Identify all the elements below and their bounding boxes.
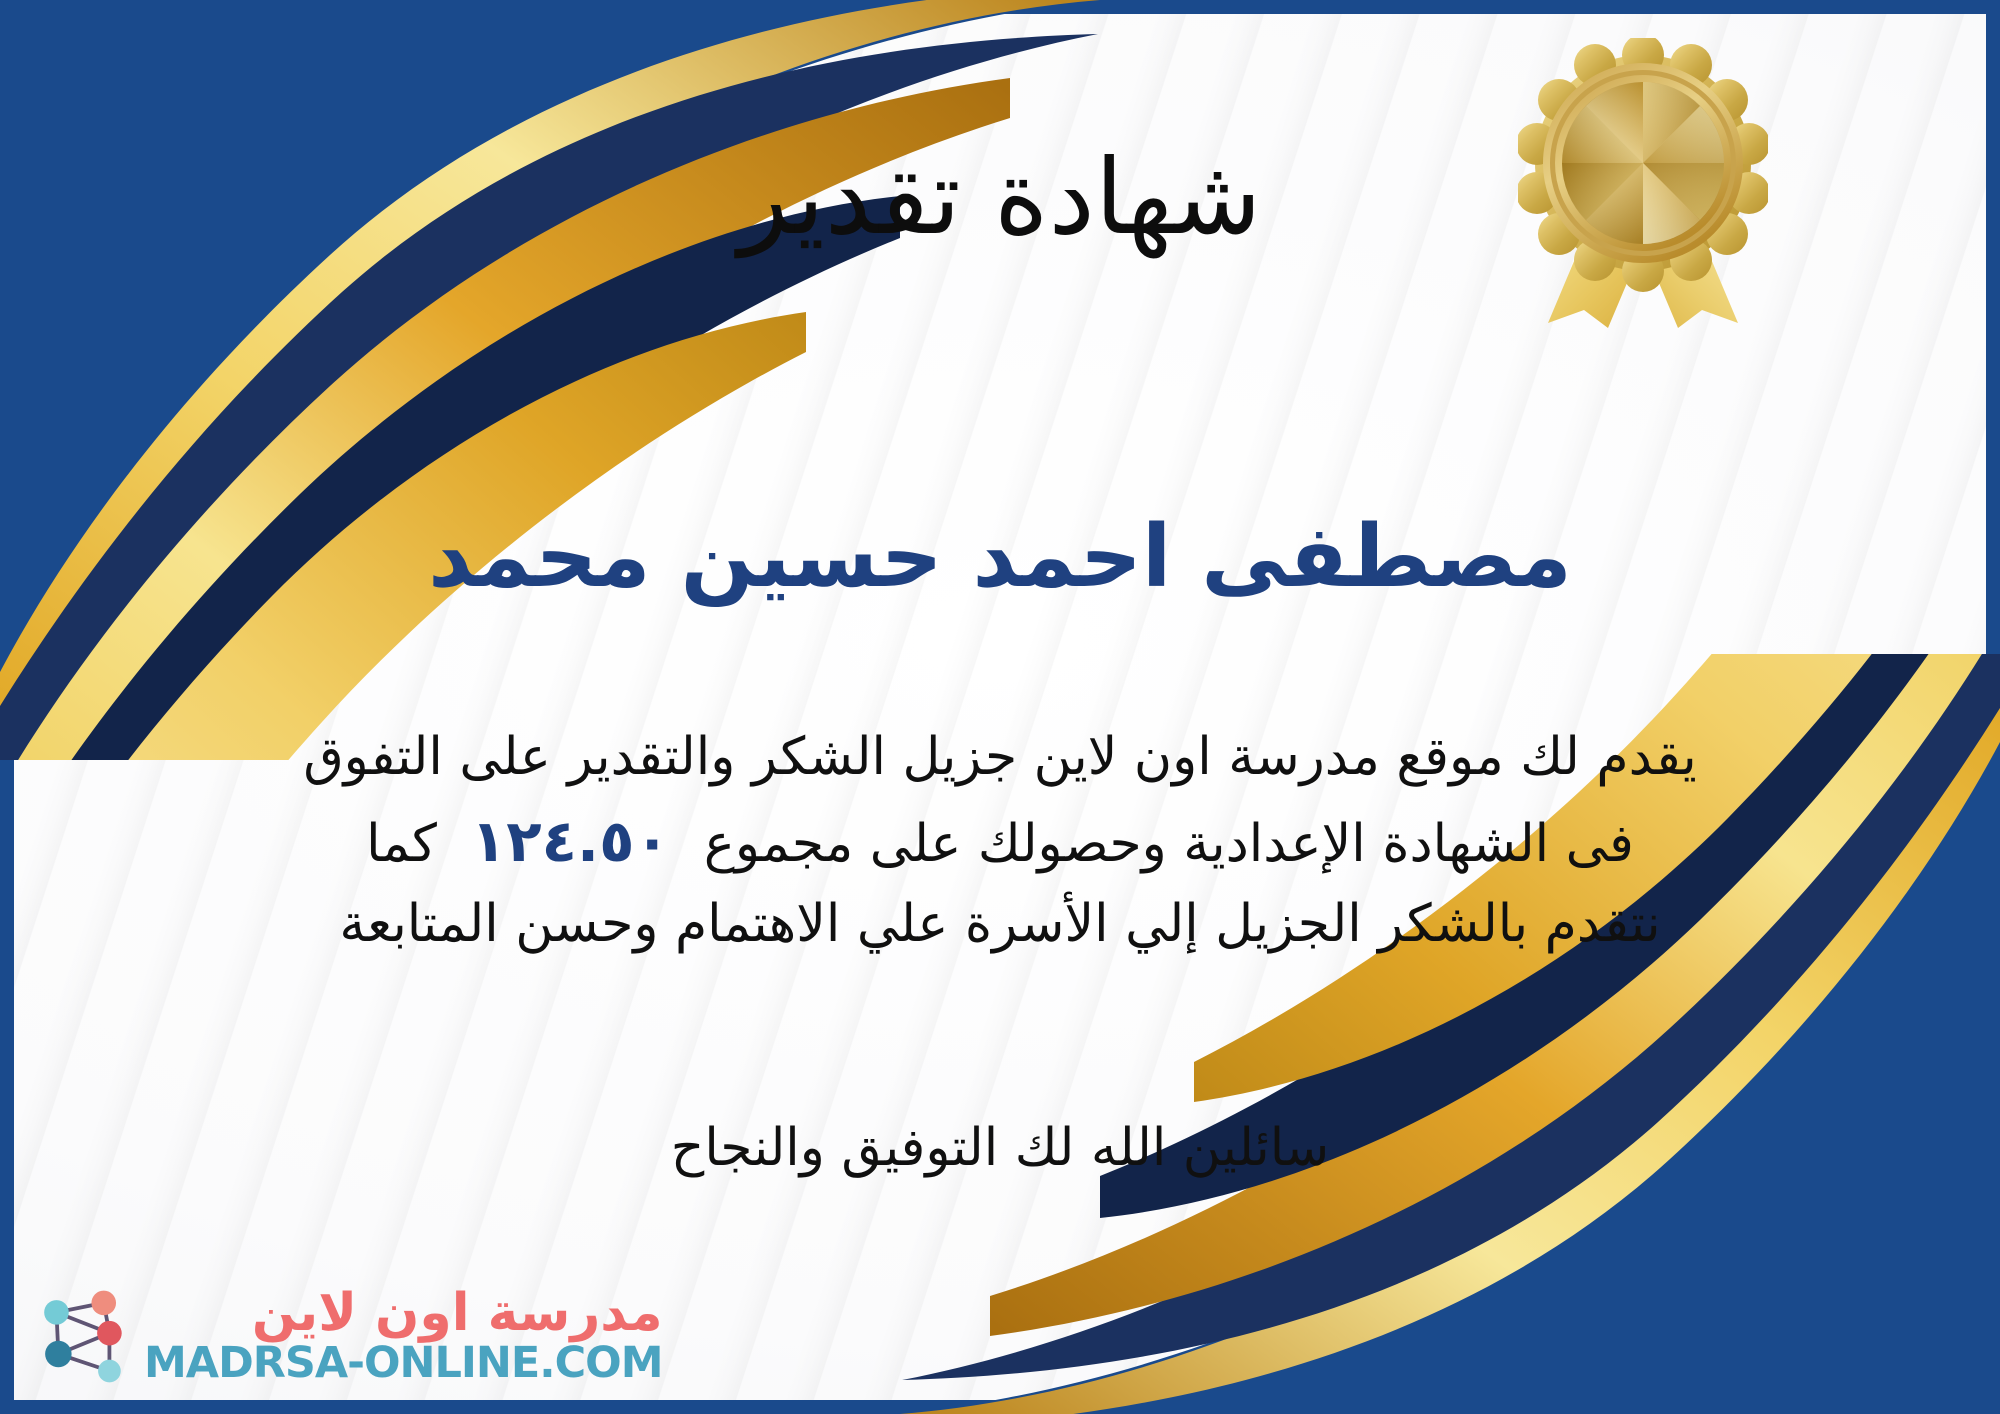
body-line-2-suffix: كما (366, 814, 437, 874)
network-nodes-icon (30, 1282, 134, 1390)
logo-arabic-name: مدرسة اون لاين (252, 1286, 663, 1341)
body-line-2: فى الشهادة الإعدادية وحصولك على مجموع١٢٤… (60, 797, 1940, 885)
body-line-2-prefix: فى الشهادة الإعدادية وحصولك على مجموع (704, 814, 1634, 874)
gold-rosette-medal-icon (1518, 38, 1768, 328)
certificate-body: يقدم لك موقع مدرسة اون لاين جزيل الشكر و… (60, 718, 1940, 964)
body-line-1: يقدم لك موقع مدرسة اون لاين جزيل الشكر و… (60, 718, 1940, 797)
site-logo[interactable]: مدرسة اون لاين MADRSA-ONLINE.COM (30, 1282, 663, 1390)
grade-total-value: ١٢٤.٥٠ (437, 807, 704, 875)
closing-wish: سائلين الله لك التوفيق والنجاح (0, 1118, 2000, 1178)
certificate-canvas: شهادة تقدير مصطفى احمد حسين محمد يقدم لك… (0, 0, 2000, 1414)
logo-domain: MADRSA-ONLINE.COM (144, 1341, 663, 1386)
recipient-name: مصطفى احمد حسين محمد (0, 508, 2000, 607)
body-line-3: نتقدم بالشكر الجزيل إلي الأسرة علي الاهت… (60, 885, 1940, 964)
